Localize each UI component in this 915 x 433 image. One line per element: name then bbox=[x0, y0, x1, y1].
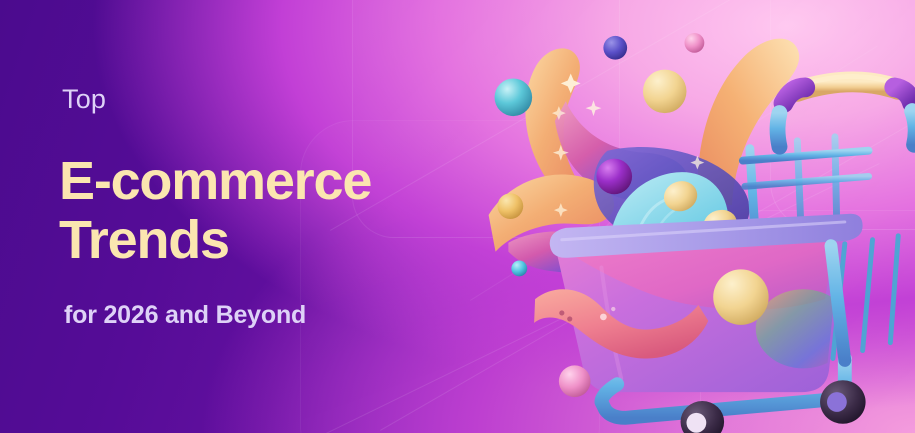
sphere-pink-small-top bbox=[685, 33, 705, 53]
sphere-cream-cart-front bbox=[713, 269, 768, 324]
sphere-purple-gloss bbox=[596, 159, 632, 195]
sphere-teal-large bbox=[495, 78, 533, 116]
banner-kicker: Top bbox=[62, 86, 106, 113]
shopping-cart-illustration bbox=[451, 0, 915, 433]
promo-banner: Top E-commerce Trends for 2026 and Beyon… bbox=[0, 0, 915, 433]
sphere-cyan-tiny bbox=[511, 261, 527, 277]
sphere-pink-bottom bbox=[559, 365, 591, 397]
banner-subline: for 2026 and Beyond bbox=[64, 303, 306, 328]
cart-handle bbox=[778, 76, 915, 146]
sphere-indigo bbox=[603, 36, 627, 60]
sphere-yellow-small bbox=[498, 193, 524, 219]
banner-copy: Top E-commerce Trends for 2026 and Beyon… bbox=[62, 0, 492, 433]
sphere-cream-large bbox=[643, 70, 687, 114]
handle-grip-left bbox=[783, 87, 805, 103]
banner-headline: E-commerce Trends bbox=[59, 152, 371, 270]
handle-grip-right bbox=[894, 87, 912, 103]
